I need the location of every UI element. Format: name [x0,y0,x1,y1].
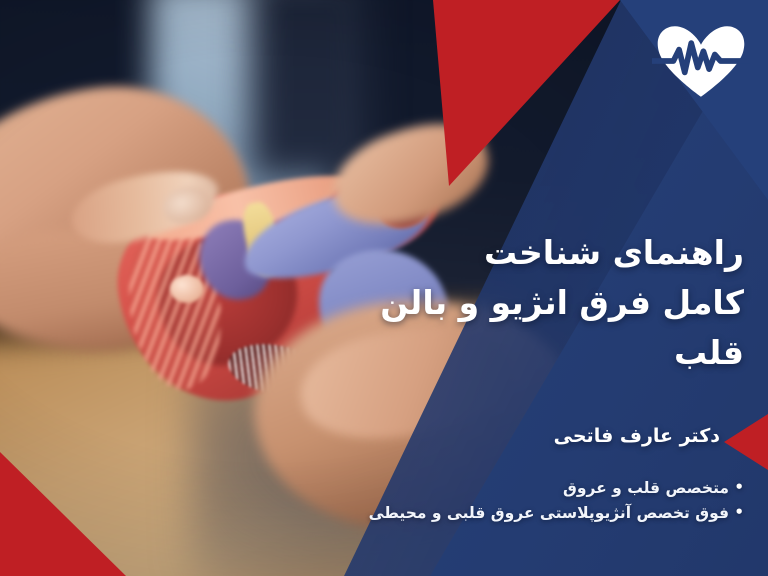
credential-item: فوق تخصص آنژیوپلاستی عروق قلبی و محیطی [304,501,744,526]
doctor-name: دکتر عارف فاتحی [554,424,720,449]
headline-line-2: کامل فرق انژیو و بالن [314,278,744,328]
credentials-list: متخصص قلب و عروق فوق تخصص آنژیوپلاستی عر… [304,476,744,526]
heart-pulse-logo-icon[interactable] [652,22,750,100]
credential-item: متخصص قلب و عروق [304,476,744,501]
poster-canvas: راهنمای شناخت کامل فرق انژیو و بالن قلب … [0,0,768,576]
headline: راهنمای شناخت کامل فرق انژیو و بالن قلب [314,228,744,378]
headline-line-3: قلب [314,328,744,378]
headline-line-1: راهنمای شناخت [314,228,744,278]
